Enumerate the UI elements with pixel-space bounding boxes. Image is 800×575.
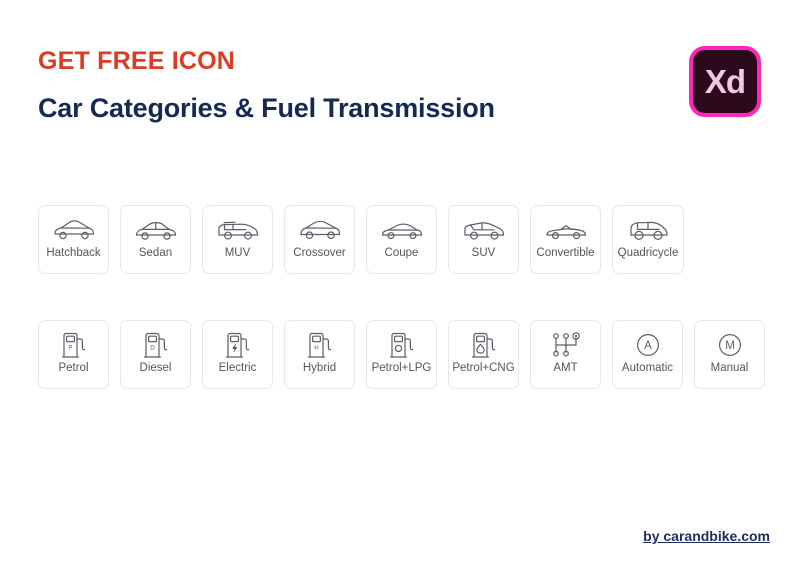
tile-petrol-lpg[interactable]: Petrol+LPG bbox=[366, 320, 437, 389]
tile-label: Convertible bbox=[536, 248, 594, 260]
credit-link[interactable]: by carandbike.com bbox=[643, 528, 770, 544]
fuel-transmission-row: P Petrol D Diesel Electri bbox=[38, 320, 765, 389]
car-crossover-icon bbox=[296, 215, 344, 245]
tile-label: Hybrid bbox=[303, 363, 336, 375]
svg-text:P: P bbox=[68, 345, 72, 352]
tile-amt[interactable]: AMT bbox=[530, 320, 601, 389]
tile-petrol-cng[interactable]: Petrol+CNG bbox=[448, 320, 519, 389]
tile-label: Manual bbox=[711, 363, 749, 375]
tile-sedan[interactable]: Sedan bbox=[120, 205, 191, 274]
tile-hybrid[interactable]: H Hybrid bbox=[284, 320, 355, 389]
car-coupe-icon bbox=[378, 215, 426, 245]
fuel-pump-lpg-icon bbox=[378, 330, 426, 360]
svg-text:D: D bbox=[150, 345, 155, 352]
gear-shift-pattern-icon bbox=[542, 330, 590, 360]
tile-label: Diesel bbox=[140, 363, 172, 375]
fuel-pump-petrol-icon: P bbox=[50, 330, 98, 360]
tile-label: SUV bbox=[472, 248, 496, 260]
fuel-pump-hybrid-icon: H bbox=[296, 330, 344, 360]
transmission-automatic-icon: A bbox=[624, 330, 672, 360]
tile-label: Crossover bbox=[293, 248, 345, 260]
page-header: GET FREE ICON Car Categories & Fuel Tran… bbox=[38, 48, 658, 123]
fuel-pump-electric-icon bbox=[214, 330, 262, 360]
tile-convertible[interactable]: Convertible bbox=[530, 205, 601, 274]
tile-label: Electric bbox=[219, 363, 257, 375]
fuel-pump-cng-icon bbox=[460, 330, 508, 360]
car-sedan-icon bbox=[132, 215, 180, 245]
page-title: Car Categories & Fuel Transmission bbox=[38, 94, 658, 124]
tile-label: Petrol+LPG bbox=[372, 363, 432, 375]
kicker-text: GET FREE ICON bbox=[38, 48, 658, 76]
tile-label: MUV bbox=[225, 248, 251, 260]
tile-manual[interactable]: M Manual bbox=[694, 320, 765, 389]
tile-label: Coupe bbox=[385, 248, 419, 260]
tile-muv[interactable]: MUV bbox=[202, 205, 273, 274]
svg-text:H: H bbox=[314, 345, 318, 352]
tile-quadricycle[interactable]: Quadricycle bbox=[612, 205, 684, 274]
car-quadricycle-icon bbox=[624, 215, 672, 245]
tile-label: AMT bbox=[553, 363, 577, 375]
adobe-xd-logo: Xd bbox=[689, 46, 761, 117]
car-convertible-icon bbox=[542, 215, 590, 245]
car-muv-icon bbox=[214, 215, 262, 245]
tile-coupe[interactable]: Coupe bbox=[366, 205, 437, 274]
tile-electric[interactable]: Electric bbox=[202, 320, 273, 389]
svg-text:A: A bbox=[644, 340, 652, 352]
svg-text:M: M bbox=[725, 340, 735, 352]
tile-label: Sedan bbox=[139, 248, 172, 260]
tile-label: Quadricycle bbox=[618, 248, 679, 260]
car-hatchback-icon bbox=[50, 215, 98, 245]
tile-label: Automatic bbox=[622, 363, 673, 375]
tile-hatchback[interactable]: Hatchback bbox=[38, 205, 109, 274]
tile-label: Hatchback bbox=[46, 248, 100, 260]
tile-label: Petrol+CNG bbox=[452, 363, 514, 375]
transmission-manual-icon: M bbox=[706, 330, 754, 360]
tile-label: Petrol bbox=[58, 363, 88, 375]
adobe-xd-logo-text: Xd bbox=[705, 65, 745, 98]
tile-suv[interactable]: SUV bbox=[448, 205, 519, 274]
tile-automatic[interactable]: A Automatic bbox=[612, 320, 683, 389]
tile-petrol[interactable]: P Petrol bbox=[38, 320, 109, 389]
tile-diesel[interactable]: D Diesel bbox=[120, 320, 191, 389]
fuel-pump-diesel-icon: D bbox=[132, 330, 180, 360]
car-suv-icon bbox=[460, 215, 508, 245]
car-categories-row: Hatchback Sedan bbox=[38, 205, 684, 274]
tile-crossover[interactable]: Crossover bbox=[284, 205, 355, 274]
